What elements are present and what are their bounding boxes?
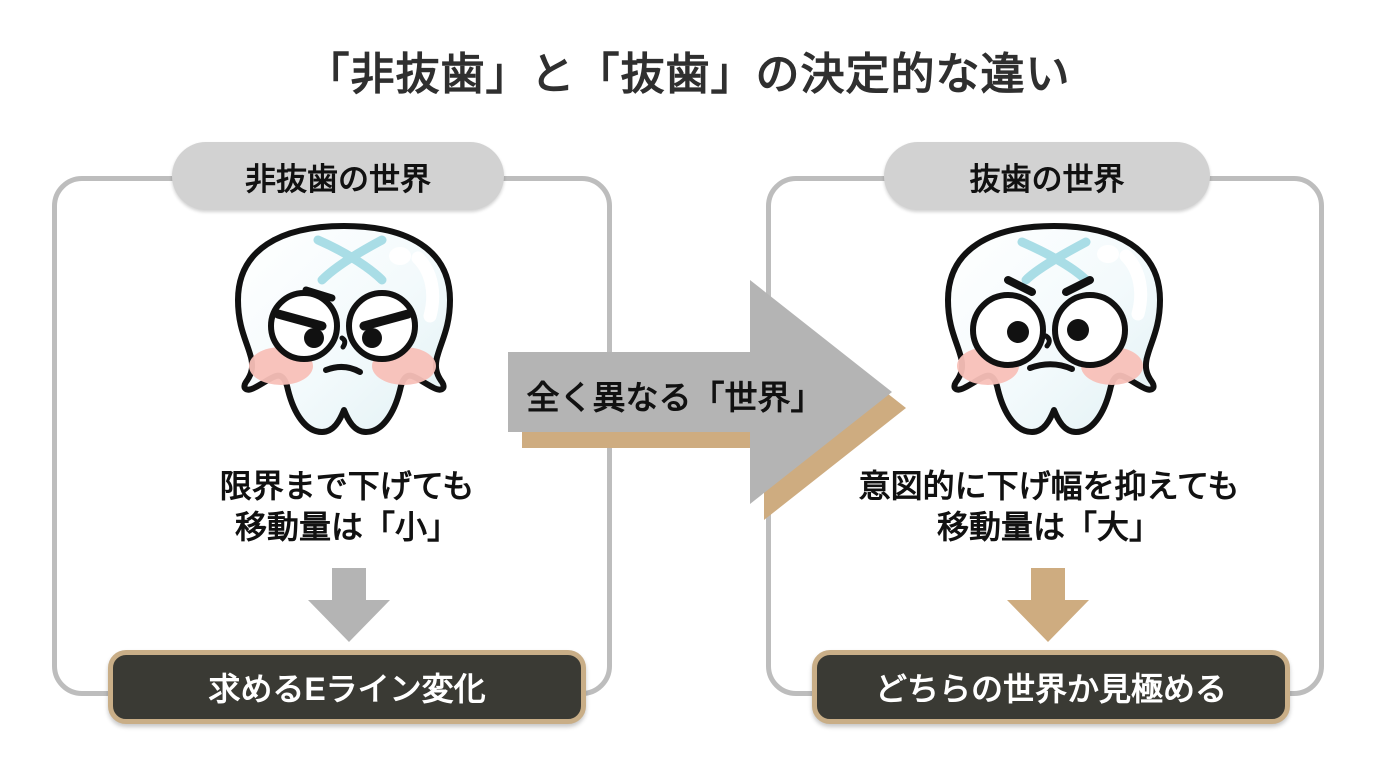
tooth-mascot-grumpy-icon xyxy=(222,214,466,444)
caption-extraction-line1: 意図的に下げ幅を抑えても xyxy=(818,466,1280,507)
column-header-label-non-extraction: 非抜歯の世界 xyxy=(245,154,431,199)
caption-extraction: 意図的に下げ幅を抑えても 移動量は「大」 xyxy=(818,466,1280,548)
arrow-down-icon-non-extraction xyxy=(306,566,392,644)
caption-non-extraction-line2: 移動量は「小」 xyxy=(132,507,562,548)
tooth-mascot-worried-icon xyxy=(932,214,1176,444)
column-header-label-extraction: 抜歯の世界 xyxy=(970,154,1125,199)
caption-non-extraction-line1: 限界まで下げても xyxy=(132,466,562,507)
result-box-non-extraction[interactable]: 求めるEライン変化 xyxy=(108,650,586,724)
result-label-extraction: どちらの世界か見極める xyxy=(875,664,1227,710)
caption-extraction-line2: 移動量は「大」 xyxy=(818,507,1280,548)
result-box-extraction[interactable]: どちらの世界か見極める xyxy=(812,650,1290,724)
arrow-down-icon-extraction xyxy=(1005,566,1091,644)
diagram-stage: 「非抜歯」と「抜歯」の決定的な違い 非抜歯の世界 抜歯の世界 xyxy=(0,0,1376,768)
column-header-pill-non-extraction: 非抜歯の世界 xyxy=(172,142,504,210)
column-header-pill-extraction: 抜歯の世界 xyxy=(884,142,1210,210)
page-title: 「非抜歯」と「抜歯」の決定的な違い xyxy=(0,38,1376,102)
result-label-non-extraction: 求めるEライン変化 xyxy=(208,664,485,710)
caption-non-extraction: 限界まで下げても 移動量は「小」 xyxy=(132,466,562,548)
